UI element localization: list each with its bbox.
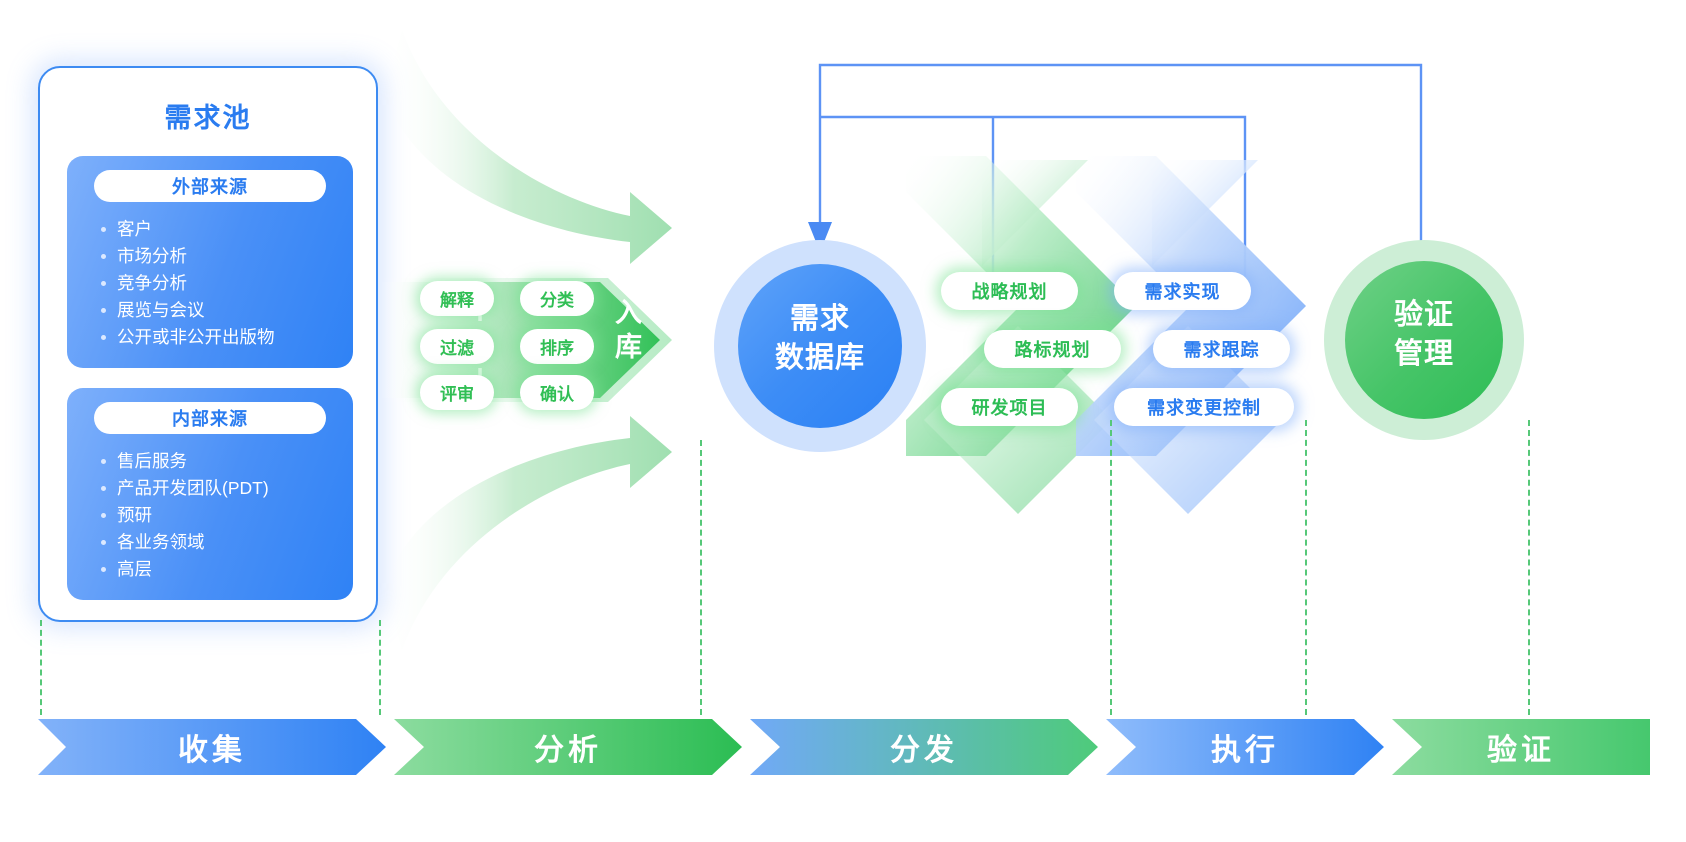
phase-label-execute: 执行 xyxy=(1106,719,1384,775)
list-item: 竞争分析 xyxy=(101,270,353,297)
phase-divider-5 xyxy=(1528,420,1530,715)
database-label-line1: 需求 xyxy=(738,300,902,339)
analysis-pill-classify[interactable]: 分类 xyxy=(520,281,594,316)
requirement-pool-card: 需求池 外部来源 客户 市场分析 竞争分析 展览与会议 公开或非公开出版物 内部… xyxy=(38,66,378,622)
analysis-pill-confirm[interactable]: 确认 xyxy=(520,375,594,410)
phase-divider-1 xyxy=(379,620,381,715)
list-item: 展览与会议 xyxy=(101,297,353,324)
execution-tag-requirement-change-control[interactable]: 需求变更控制 xyxy=(1114,388,1294,426)
list-item: 售后服务 xyxy=(101,448,353,475)
list-item: 高层 xyxy=(101,556,353,583)
distribution-tag-strategic-planning[interactable]: 战略规划 xyxy=(941,272,1078,310)
pool-title: 需求池 xyxy=(40,96,376,135)
analysis-pill-review[interactable]: 评审 xyxy=(420,375,494,410)
list-item: 产品开发团队(PDT) xyxy=(101,475,353,502)
internal-source-heading: 内部来源 xyxy=(94,402,326,434)
analysis-pill-filter[interactable]: 过滤 xyxy=(420,329,494,364)
analysis-pill-sort[interactable]: 排序 xyxy=(520,329,594,364)
execution-tag-requirement-implementation[interactable]: 需求实现 xyxy=(1114,272,1251,310)
phase-divider-4 xyxy=(1305,420,1307,715)
validation-label-line2: 管理 xyxy=(1345,335,1503,374)
requirement-database-label: 需求 数据库 xyxy=(738,300,902,378)
internal-source-list: 售后服务 产品开发团队(PDT) 预研 各业务领域 高层 xyxy=(101,448,353,583)
phase-divider-0 xyxy=(40,620,42,715)
phase-label-analyze: 分析 xyxy=(394,719,742,775)
execution-tag-requirement-tracking[interactable]: 需求跟踪 xyxy=(1153,330,1290,368)
validation-label-line1: 验证 xyxy=(1345,296,1503,335)
external-source-heading: 外部来源 xyxy=(94,170,326,202)
list-item: 各业务领域 xyxy=(101,529,353,556)
phase-divider-2 xyxy=(700,440,702,715)
list-item: 客户 xyxy=(101,216,353,243)
external-source-list: 客户 市场分析 竞争分析 展览与会议 公开或非公开出版物 xyxy=(101,216,353,351)
phase-divider-3 xyxy=(1110,420,1112,715)
validation-management-label: 验证 管理 xyxy=(1345,296,1503,374)
phase-label-verify: 验证 xyxy=(1392,719,1650,775)
internal-source-box: 内部来源 售后服务 产品开发团队(PDT) 预研 各业务领域 高层 xyxy=(67,388,353,600)
store-arrow-label: 入库 xyxy=(606,296,652,364)
phase-label-collect: 收集 xyxy=(38,719,386,775)
phase-label-distribute: 分发 xyxy=(750,719,1098,775)
external-source-box: 外部来源 客户 市场分析 竞争分析 展览与会议 公开或非公开出版物 xyxy=(67,156,353,368)
distribution-tag-rd-project[interactable]: 研发项目 xyxy=(941,388,1078,426)
store-label-char1: 入库 xyxy=(606,296,652,364)
diagram-canvas: 需求池 外部来源 客户 市场分析 竞争分析 展览与会议 公开或非公开出版物 内部… xyxy=(0,0,1686,842)
database-label-line2: 数据库 xyxy=(738,339,902,378)
distribution-tag-roadmap-planning[interactable]: 路标规划 xyxy=(984,330,1121,368)
list-item: 公开或非公开出版物 xyxy=(101,324,353,351)
list-item: 市场分析 xyxy=(101,243,353,270)
list-item: 预研 xyxy=(101,502,353,529)
analysis-pill-interpret[interactable]: 解释 xyxy=(420,281,494,316)
